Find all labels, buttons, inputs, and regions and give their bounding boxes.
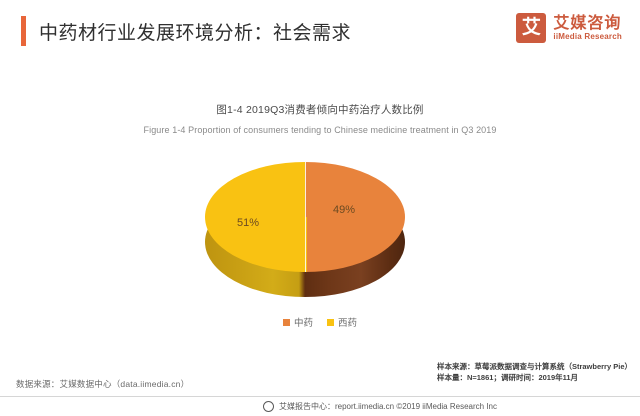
data-source-note: 数据来源：艾媒数据中心（data.iimedia.cn） xyxy=(16,378,189,390)
legend-item-western-medicine[interactable]: 西药 xyxy=(327,315,357,329)
brand-logo: 艾 艾媒咨询 iiMedia Research xyxy=(516,13,622,43)
chart-legend: 中药 西药 xyxy=(0,315,640,329)
title-accent-bar xyxy=(21,16,26,46)
chart-container: 图1-4 2019Q3消费者倾向中药治疗人数比例 Figure 1-4 Prop… xyxy=(0,62,640,357)
pie-slice-offset-wedge xyxy=(301,217,307,272)
brand-name-en: iiMedia Research xyxy=(553,32,622,42)
sample-source-note: 样本来源：草莓派数据调查与计算系统（Strawberry Pie） xyxy=(437,361,632,372)
sample-info-block: 样本来源：草莓派数据调查与计算系统（Strawberry Pie） 样本量：N=… xyxy=(437,361,632,383)
footer-text: 艾媒报告中心：report.iimedia.cn ©2019 iiMedia R… xyxy=(279,401,497,412)
pie-top-surface xyxy=(205,162,405,272)
brand-mark-icon: 艾 xyxy=(516,13,546,43)
chart-title: 图1-4 2019Q3消费者倾向中药治疗人数比例 xyxy=(0,102,640,117)
pie-slice-chinese-medicine[interactable] xyxy=(305,162,405,272)
sample-size-note: 样本量：N=1861；调研时间：2019年11月 xyxy=(437,372,632,383)
page-title: 中药材行业发展环境分析：社会需求 xyxy=(39,18,351,45)
page-footer: 艾媒报告中心：report.iimedia.cn ©2019 iiMedia R… xyxy=(0,396,640,416)
pie-label-chinese-medicine: 49% xyxy=(333,204,355,216)
brand-text: 艾媒咨询 iiMedia Research xyxy=(553,15,622,42)
chart-subtitle: Figure 1-4 Proportion of consumers tendi… xyxy=(0,125,640,135)
legend-label-western-medicine: 西药 xyxy=(338,315,357,329)
page-header: 中药材行业发展环境分析：社会需求 艾 艾媒咨询 iiMedia Research xyxy=(0,0,640,62)
pie-chart: 49% 51% xyxy=(205,162,405,297)
legend-swatch-icon xyxy=(283,319,290,326)
pie-label-western-medicine: 51% xyxy=(237,217,259,229)
brand-name-cn: 艾媒咨询 xyxy=(553,15,622,32)
footer-logo-icon xyxy=(263,401,274,412)
legend-item-chinese-medicine[interactable]: 中药 xyxy=(283,315,313,329)
legend-label-chinese-medicine: 中药 xyxy=(294,315,313,329)
pie-slice-divider xyxy=(305,162,306,272)
legend-swatch-icon xyxy=(327,319,334,326)
footer-content: 艾媒报告中心：report.iimedia.cn ©2019 iiMedia R… xyxy=(143,401,497,412)
